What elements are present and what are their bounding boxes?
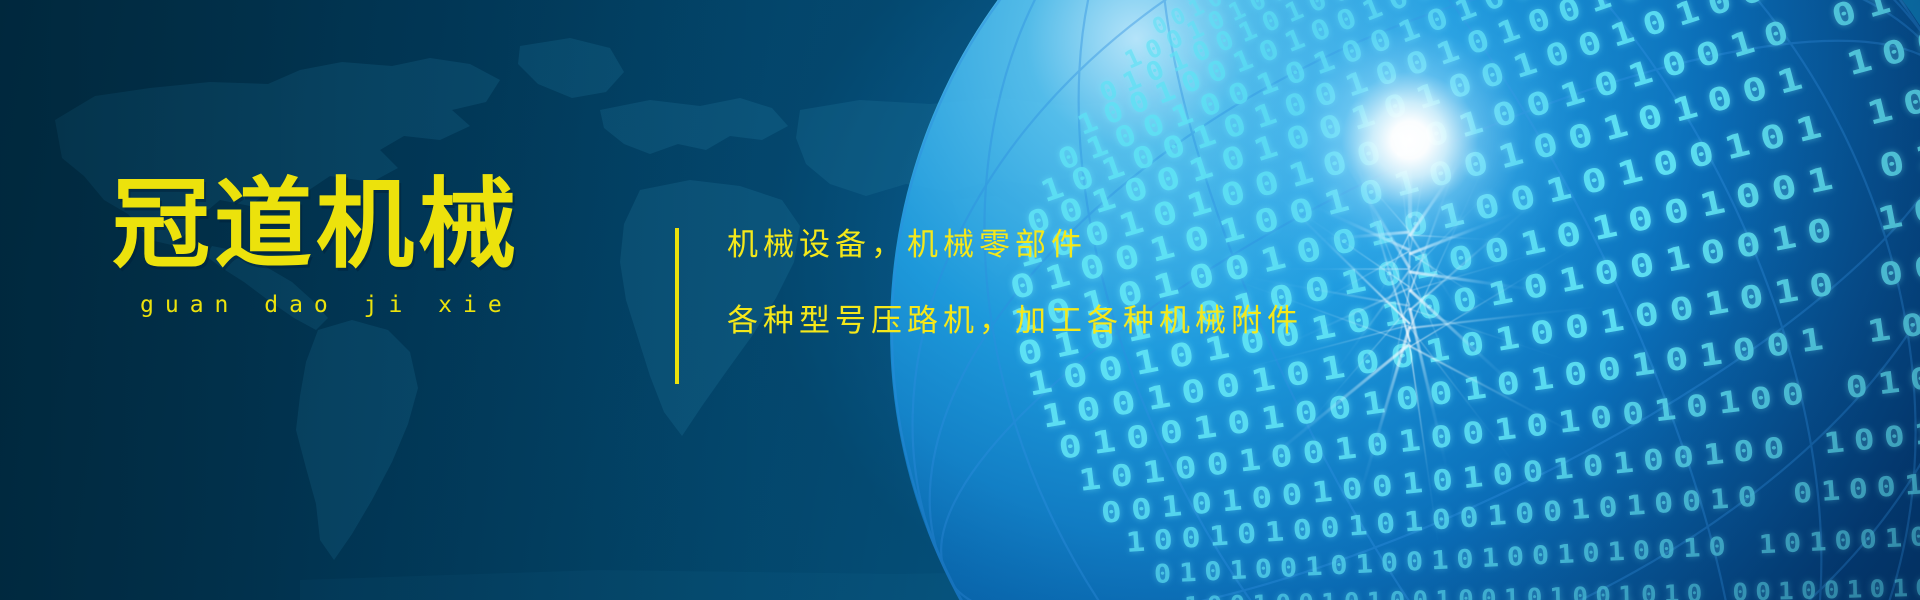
slogan-line-2: 各种型号压路机，加工各种机械附件 <box>727 306 1303 337</box>
slogan-block: 机械设备，机械零部件 各种型号压路机，加工各种机械附件 <box>727 230 1303 337</box>
company-name: 冠道机械 <box>112 176 532 276</box>
company-name-pinyin: guan dao ji xie <box>112 292 532 318</box>
vertical-divider <box>675 228 679 384</box>
hero-banner: 10010010100101001001010 0010100100101001… <box>0 0 1920 600</box>
slogan-line-1: 机械设备，机械零部件 <box>727 230 1303 261</box>
banner-content: 冠道机械 guan dao ji xie 机械设备，机械零部件 各种型号压路机，… <box>0 0 1920 600</box>
company-logo[interactable]: 冠道机械 guan dao ji xie <box>112 176 532 318</box>
